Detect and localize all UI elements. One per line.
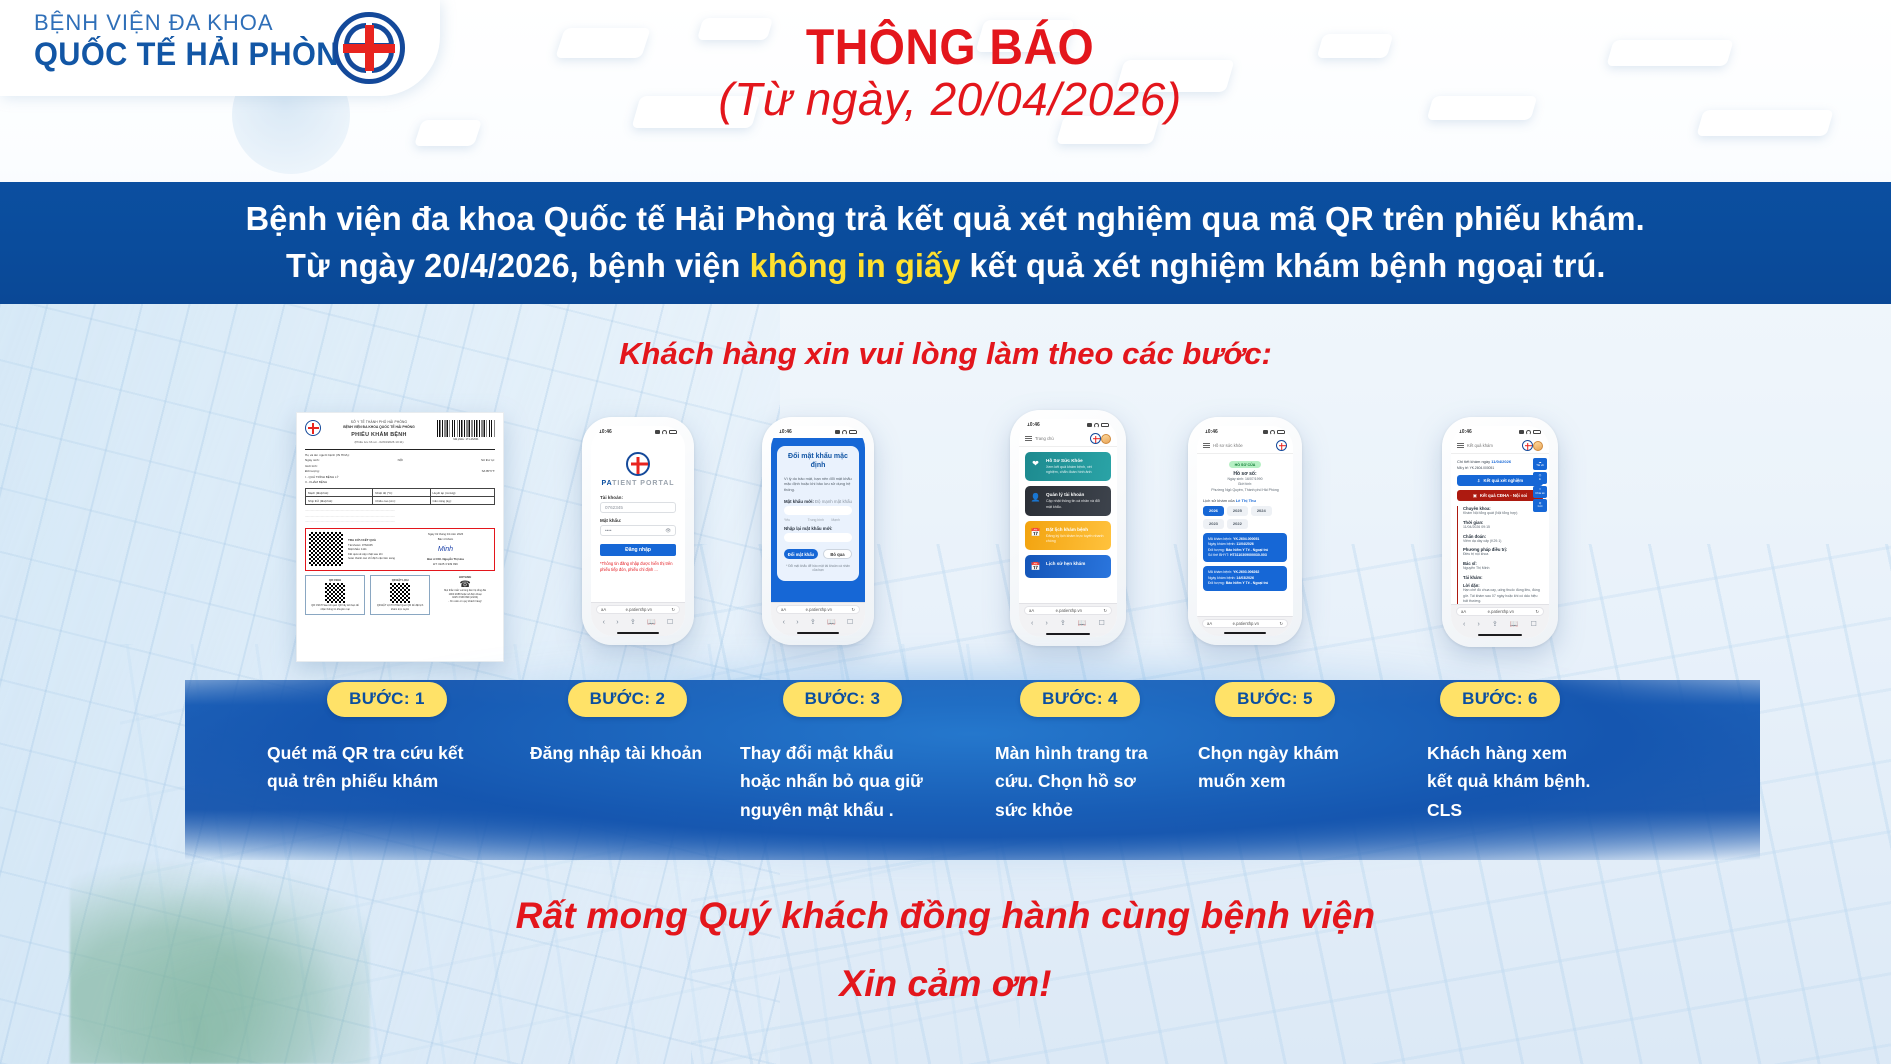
step-4-badge: BƯỚC: 4 xyxy=(1020,682,1140,717)
step-6-caption: Khách hàng xem kết quả khám bệnh. CLS xyxy=(1395,739,1605,824)
step-5-caption: Chọn ngày khám muốn xem xyxy=(1180,739,1370,796)
step-6-badge: BƯỚC: 6 xyxy=(1440,682,1560,717)
step-3-caption: Thay đổi mật khẩu hoặc nhấn bỏ qua giữ n… xyxy=(735,739,950,824)
step-1: BƯỚC: 1 Quét mã QR tra cứu kết quả trên … xyxy=(262,682,512,796)
brand-lockup: BỆNH VIỆN ĐA KHOA QUỐC TẾ HẢI PHÒNG xyxy=(34,10,377,70)
step-2-badge: BƯỚC: 2 xyxy=(568,682,688,717)
step-1-caption: Quét mã QR tra cứu kết quả trên phiếu kh… xyxy=(262,739,512,796)
step-4-caption: Màn hình trang tra cứu. Chọn hồ sơ sức k… xyxy=(985,739,1175,824)
hospital-cross-logo-icon xyxy=(333,12,405,84)
step-3-badge: BƯỚC: 3 xyxy=(783,682,903,717)
step-2: BƯỚC: 2 Đăng nhập tài khoản xyxy=(520,682,735,767)
step-2-caption: Đăng nhập tài khoản xyxy=(520,739,735,767)
announcement-poster: BỆNH VIỆN ĐA KHOA QUỐC TẾ HẢI PHÒNG THÔN… xyxy=(0,0,1891,1064)
step-6: BƯỚC: 6 Khách hàng xem kết quả khám bệnh… xyxy=(1395,682,1605,824)
closing-line-1: Rất mong Quý khách đồng hành cùng bệnh v… xyxy=(0,895,1891,937)
step-5-badge: BƯỚC: 5 xyxy=(1215,682,1335,717)
brand-line-1: BỆNH VIỆN ĐA KHOA xyxy=(34,10,377,36)
step-5: BƯỚC: 5 Chọn ngày khám muốn xem xyxy=(1180,682,1370,796)
closing-line-2: Xin cảm ơn! xyxy=(0,963,1891,1005)
closing-message: Rất mong Quý khách đồng hành cùng bệnh v… xyxy=(0,895,1891,1005)
brand-line-2: QUỐC TẾ HẢI PHÒNG xyxy=(34,38,363,70)
step-3: BƯỚC: 3 Thay đổi mật khẩu hoặc nhấn bỏ q… xyxy=(735,682,950,824)
step-1-badge: BƯỚC: 1 xyxy=(327,682,447,717)
step-4: BƯỚC: 4 Màn hình trang tra cứu. Chọn hồ … xyxy=(985,682,1175,824)
